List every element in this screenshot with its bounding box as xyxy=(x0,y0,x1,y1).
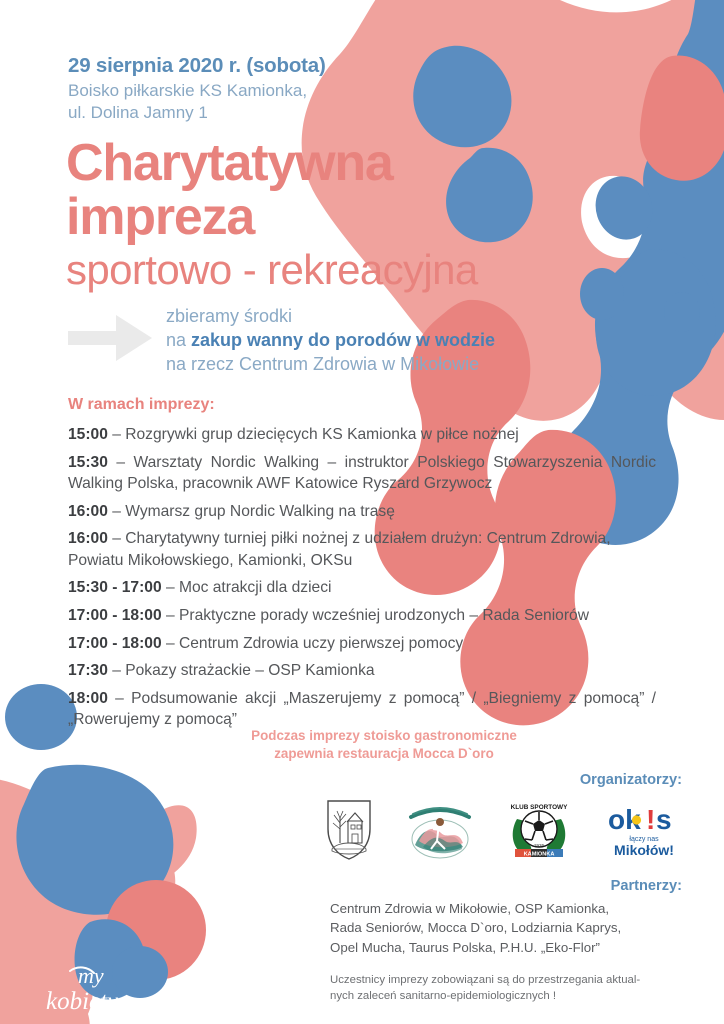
program-item-time: 18:00 xyxy=(68,690,108,707)
program-item-description: Wymarsz grup Nordic Walking na trasę xyxy=(125,503,395,520)
partners-label: Partnerzy: xyxy=(0,878,724,894)
partners-text: Centrum Zdrowia w Mikołowie, OSP Kamionk… xyxy=(330,899,686,957)
program-item: 15:30 – Warsztaty Nordic Walking – instr… xyxy=(68,452,656,494)
footer-line-2: nych zaleceń sanitarno-epidemiologicznyc… xyxy=(330,988,690,1004)
program-item-dash: – xyxy=(162,607,179,624)
partner-line-3: Opel Mucha, Taurus Polska, P.H.U. „Eko-F… xyxy=(330,938,686,957)
program-item-description: Rozgrywki grup dziecięcych KS Kamionka w… xyxy=(125,426,518,443)
program-item: 16:00 – Charytatywny turniej piłki nożne… xyxy=(68,528,668,570)
venue-line-1: Boisko piłkarskie KS Kamionka, xyxy=(68,80,326,102)
program-item-dash: – xyxy=(108,426,125,443)
program-item-description: Centrum Zdrowia uczy pierwszej pomocy xyxy=(179,635,463,652)
purpose-line-2-strong: zakup wanny do porodów w wodzie xyxy=(191,330,495,350)
ks-kamionka-top-text: KLUB SPORTOWY xyxy=(511,804,568,811)
organizers-label: Organizatorzy: xyxy=(0,772,724,788)
footer-line-1: Uczestnicy imprezy zobowiązani są do prz… xyxy=(330,972,690,988)
program-item-description: Charytatywny turniej piłki nożnej z udzi… xyxy=(68,530,611,568)
program-item-time: 15:30 xyxy=(68,454,108,471)
purpose-line-3: na rzecz Centrum Zdrowia w Mikołowie xyxy=(166,353,668,377)
program-item: 17:00 - 18:00 – Centrum Zdrowia uczy pie… xyxy=(68,633,668,654)
page-title: Charytatywna impreza sportowo - rekreacy… xyxy=(66,136,478,294)
gastronomy-note: Podczas imprezy stoisko gastronomiczne z… xyxy=(0,727,724,763)
gastro-line-2: zapewnia restauracja Mocca D`oro xyxy=(44,745,724,763)
program-heading: W ramach imprezy: xyxy=(68,396,668,414)
program-item-time: 17:00 - 18:00 xyxy=(68,635,162,652)
partner-line-1: Centrum Zdrowia w Mikołowie, OSP Kamionk… xyxy=(330,899,686,918)
event-date: 29 sierpnia 2020 r. (sobota) xyxy=(68,54,326,78)
oks-mikolow-logo: ok ! s łączy nas Mikołów! xyxy=(606,798,682,862)
footer-note: Uczestnicy imprezy zobowiązani są do prz… xyxy=(330,972,690,1004)
arrow-right-icon xyxy=(68,314,152,362)
my-kobiety-logo: my kobiety xyxy=(44,957,164,1019)
organizer-logo-row: KLUB SPORTOWY KAMIONKA 1926 ok ! s łączy… xyxy=(326,795,682,865)
program-item-time: 16:00 xyxy=(68,503,108,520)
program-item-dash: – xyxy=(108,503,125,520)
purpose-line-1: zbieramy środki xyxy=(166,305,668,329)
program-item-description: Pokazy strażackie – OSP Kamionka xyxy=(125,662,374,679)
program-item-dash: – xyxy=(108,530,125,547)
oks-bang-text: ! xyxy=(646,804,655,835)
program-item-description: Podsumowanie akcji „Maszerujemy z pomocą… xyxy=(68,690,656,728)
oks-tail-text: s xyxy=(656,804,672,835)
oks-sub2-text: Mikołów! xyxy=(614,842,674,858)
poster-root: 29 sierpnia 2020 r. (sobota) Boisko piłk… xyxy=(0,0,724,1024)
program-list: 15:00 – Rozgrywki grup dziecięcych KS Ka… xyxy=(68,424,668,730)
program-item: 15:00 – Rozgrywki grup dziecięcych KS Ka… xyxy=(68,424,668,445)
program-item-time: 17:30 xyxy=(68,662,108,679)
title-line-1: Charytatywna xyxy=(66,136,478,190)
program-item-time: 16:00 xyxy=(68,530,108,547)
purpose-block: zbieramy środki na zakup wanny do porodó… xyxy=(68,305,668,377)
program-item: 17:30 – Pokazy strażackie – OSP Kamionka xyxy=(68,660,668,681)
title-subtitle: sportowo - rekreacyjna xyxy=(66,246,478,294)
ks-kamionka-logo: KLUB SPORTOWY KAMIONKA 1926 xyxy=(507,798,571,862)
program-item-dash: – xyxy=(162,635,179,652)
ks-kamionka-bottom-text: KAMIONKA xyxy=(524,851,555,857)
gmina-coat-of-arms-logo xyxy=(326,798,372,862)
program-item-description: Moc atrakcji dla dzieci xyxy=(179,579,332,596)
ks-kamionka-year-text: 1926 xyxy=(534,843,545,848)
purpose-text: zbieramy środki na zakup wanny do porodó… xyxy=(166,305,668,377)
program-item: 17:00 - 18:00 – Praktyczne porady wcześn… xyxy=(68,605,668,626)
dolina-jamny-logo xyxy=(407,798,473,862)
program-block: W ramach imprezy: 15:00 – Rozgrywki grup… xyxy=(68,396,668,737)
program-item-time: 15:30 - 17:00 xyxy=(68,579,162,596)
title-line-2: impreza xyxy=(66,190,478,244)
poster-content: 29 sierpnia 2020 r. (sobota) Boisko piłk… xyxy=(0,0,724,1024)
brand-line-2: kobiety xyxy=(46,988,119,1015)
purpose-line-2-prefix: na xyxy=(166,330,191,350)
header-block: 29 sierpnia 2020 r. (sobota) Boisko piłk… xyxy=(68,54,326,125)
program-item-time: 17:00 - 18:00 xyxy=(68,607,162,624)
venue-line-2: ul. Dolina Jamny 1 xyxy=(68,102,326,124)
program-item-dash: – xyxy=(162,579,179,596)
program-item-description: Warsztaty Nordic Walking – instruktor Po… xyxy=(68,454,656,492)
program-item: 16:00 – Wymarsz grup Nordic Walking na t… xyxy=(68,501,668,522)
partner-line-2: Rada Seniorów, Mocca D`oro, Lodziarnia K… xyxy=(330,918,686,937)
gastro-line-1: Podczas imprezy stoisko gastronomiczne xyxy=(44,727,724,745)
program-item-description: Praktyczne porady wcześniej urodzonych –… xyxy=(179,607,589,624)
program-item-time: 15:00 xyxy=(68,426,108,443)
purpose-line-2: na zakup wanny do porodów w wodzie xyxy=(166,329,668,353)
program-item: 15:30 - 17:00 – Moc atrakcji dla dzieci xyxy=(68,577,668,598)
program-item-dash: – xyxy=(108,454,134,471)
program-item: 18:00 – Podsumowanie akcji „Maszerujemy … xyxy=(68,688,656,730)
program-item-dash: – xyxy=(108,662,125,679)
program-item-dash: – xyxy=(108,690,131,707)
